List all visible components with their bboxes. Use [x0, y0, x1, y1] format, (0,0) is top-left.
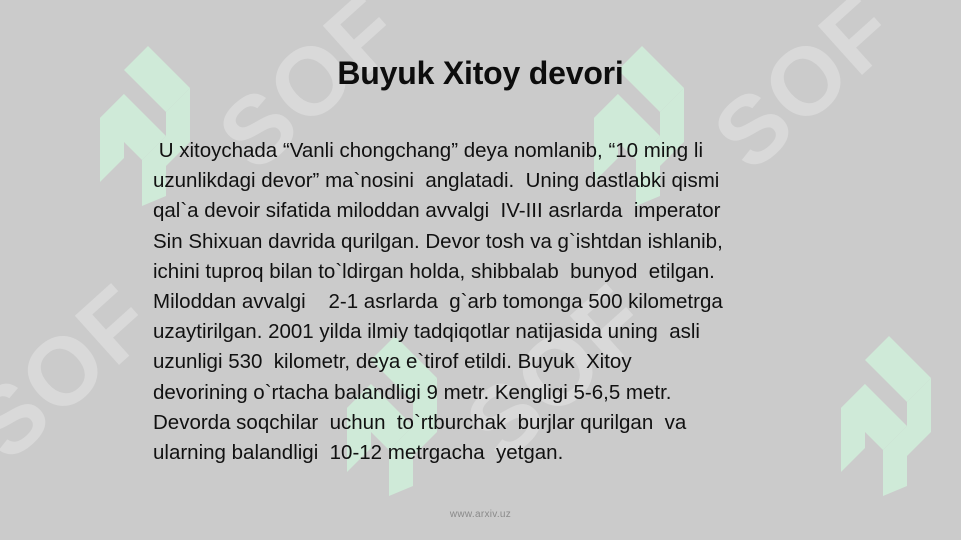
- presentation-slide: SOFSOFSOFSOFSOF Buyuk Xitoy devori U xit…: [0, 0, 961, 540]
- body-line: ichini tuproq bilan to`ldirgan holda, sh…: [153, 257, 883, 287]
- body-line: uzunlikdagi devor” ma`nosini anglatadi. …: [153, 166, 883, 196]
- body-paragraph: U xitoychada “Vanli chongchang” deya nom…: [153, 136, 883, 468]
- body-line: devorining o`rtacha balandligi 9 metr. K…: [153, 378, 883, 408]
- body-line: ularning balandligi 10-12 metrgacha yetg…: [153, 438, 883, 468]
- body-line: uzaytirilgan. 2001 yilda ilmiy tadqiqotl…: [153, 317, 883, 347]
- body-line: Miloddan avvalgi 2-1 asrlarda g`arb tomo…: [153, 287, 883, 317]
- page-title: Buyuk Xitoy devori: [0, 55, 961, 92]
- slide-content: Buyuk Xitoy devori U xitoychada “Vanli c…: [0, 0, 961, 540]
- footer-source-url: www.arxiv.uz: [0, 509, 961, 520]
- body-line: uzunligi 530 kilometr, deya e`tirof etil…: [153, 347, 883, 377]
- body-line: U xitoychada “Vanli chongchang” deya nom…: [153, 136, 883, 166]
- body-line: qal`a devoir sifatida miloddan avvalgi I…: [153, 196, 883, 226]
- body-line: Sin Shixuan davrida qurilgan. Devor tosh…: [153, 227, 883, 257]
- body-line: Devorda soqchilar uchun to`rtburchak bur…: [153, 408, 883, 438]
